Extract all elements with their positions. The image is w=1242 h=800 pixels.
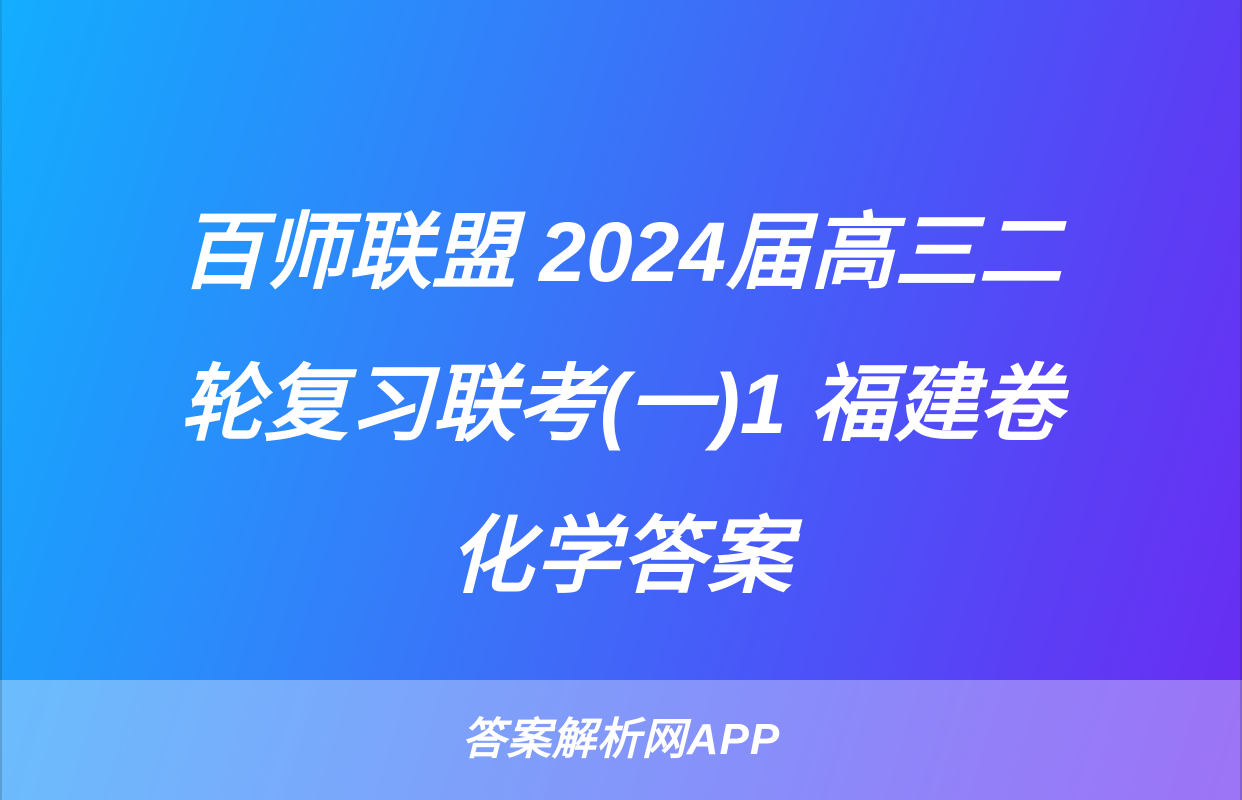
page-title: 百师联盟 2024届高三二 轮复习联考(一)1 福建卷 化学答案 (0, 176, 1242, 632)
watermark-label: 答案解析网APP (462, 714, 780, 766)
title-line-3: 化学答案 (44, 480, 1198, 632)
answer-cover-card: 百师联盟 2024届高三二 轮复习联考(一)1 福建卷 化学答案 答案解析网AP… (0, 0, 1242, 800)
watermark-band: 答案解析网APP (0, 680, 1242, 800)
left-edge-stroke (0, 0, 2, 800)
title-line-2: 轮复习联考(一)1 福建卷 (44, 328, 1198, 480)
title-line-1: 百师联盟 2024届高三二 (44, 176, 1198, 328)
